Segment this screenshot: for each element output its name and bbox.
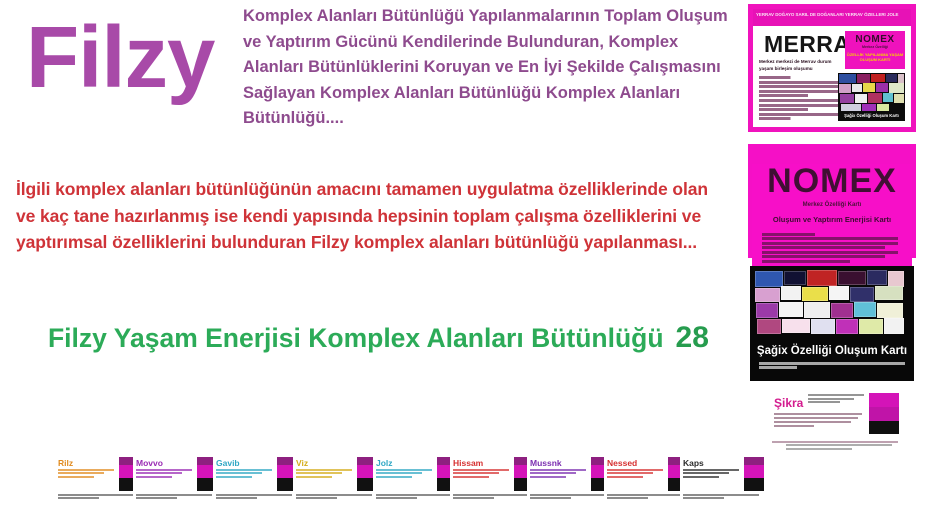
thumbnail-label: Nessed [607,458,637,468]
merrav-topbar-text: YERRAV DOĞAYO SARIL DE DOĞANLARI YERRAV … [753,9,911,26]
thumbnail-color-swatch [744,457,764,491]
sikra-headline: Şikra [774,396,803,410]
red-paragraph: İlgili komplex alanları bütünlüğünün ama… [16,176,730,256]
thumbnail-label: Hissam [453,458,483,468]
sikra-body-text [774,413,862,429]
thumbnail-card[interactable]: Gavib [213,455,299,503]
thumbnail-text-lines [683,469,741,479]
thumbnail-footer-lines [136,494,212,500]
thumbnail-label: Rilz [58,458,73,468]
thumbnail-label: Gavib [216,458,240,468]
thumbnail-card[interactable]: Kaps [680,455,766,503]
thumbnail-text-lines [530,469,588,479]
merrav-body-text [759,76,845,122]
sikra-footer-rule [772,441,898,443]
thumbnail-text-lines [296,469,354,479]
nomex-badge-orange-text: ÖZELLİK YAPILANMA YAŞAM OLUŞUM KARTI [845,52,905,63]
thumbnail-card[interactable]: Movvo [133,455,219,503]
thumbnail-card[interactable]: Jolz [373,455,459,503]
collage-subtext [759,362,905,370]
thumbnail-text-lines [58,469,116,479]
thumbnail-text-lines [453,469,511,479]
nomex-subtitle-2: Oluşum ve Yaptırım Enerjisi Kartı [752,215,912,224]
thumbnail-footer-lines [296,494,372,500]
thumbnail-footer-lines [58,494,134,500]
thumbnail-label: Movvo [136,458,163,468]
green-heading-text: Filzy Yaşam Enerjisi Komplex Alanları Bü… [48,323,664,353]
thumbnail-card[interactable]: Rilz [55,455,141,503]
thumbnail-label: Mussnk [530,458,562,468]
merrav-mini-collage: Şağix Özelliği Oluşum Kartı [838,73,905,121]
merrav-subtitle: Merkez merkezi de Merrav durum yaşam bir… [759,59,847,73]
nomex-body-text [762,233,902,263]
thumbnail-text-lines [607,469,665,479]
thumbnail-footer-lines [683,494,759,500]
thumbnail-card[interactable]: Viz [293,455,379,503]
thumbnail-card[interactable]: Nessed [604,455,690,503]
collage-caption: Şağix Özelliği Oluşum Kartı [750,345,914,357]
nomex-badge-sub: Merkez Özelliği [845,45,905,50]
thumbnail-footer-lines [376,494,452,500]
nomex-card[interactable]: NOMEX Merkez Özelliği Kartı Oluşum ve Ya… [748,144,916,258]
thumbnail-footer-lines [607,494,683,500]
sikra-card[interactable]: Şikra [762,389,905,445]
nomex-badge: NOMEX Merkez Özelliği ÖZELLİK YAPILANMA … [845,31,905,69]
collage-card[interactable]: Şağix Özelliği Oluşum Kartı [750,266,914,381]
thumbnail-strip: RilzMovvoGavibVizJolzHissamMussnkNessedK… [0,455,925,515]
thumbnail-label: Kaps [683,458,704,468]
nomex-headline: NOMEX [752,164,912,198]
thumbnail-footer-lines [530,494,606,500]
nomex-subtitle-1: Merkez Özelliği Kartı [752,202,912,208]
thumbnail-footer-lines [216,494,292,500]
green-heading: Filzy Yaşam Enerjisi Komplex Alanları Bü… [48,316,738,360]
thumbnail-text-lines [216,469,274,479]
document-page: Filzy Komplex Alanları Bütünlüğü Yapılan… [0,0,925,527]
merrav-card-body: YERRAV DOĞAYO SARIL DE DOĞANLARI YERRAV … [753,9,911,127]
sikra-thumbnail-stack [869,393,899,434]
nomex-card-body: NOMEX Merkez Özelliği Kartı Oluşum ve Ya… [752,164,912,270]
green-heading-number: 28 [664,321,709,354]
nomex-badge-word: NOMEX [845,34,905,45]
merrav-card[interactable]: YERRAV DOĞAYO SARIL DE DOĞANLARI YERRAV … [748,4,916,132]
thumbnail-label: Jolz [376,458,393,468]
thumbnail-text-lines [136,469,194,479]
purple-paragraph: Komplex Alanları Bütünlüğü Yapılanmaları… [243,4,735,132]
collage-thumbnail-grid [753,269,911,341]
stray-text-block [786,444,892,453]
thumbnail-text-lines [376,469,434,479]
sikra-header-lines [808,394,864,405]
thumbnail-card[interactable]: Hissam [450,455,536,503]
thumbnail-footer-lines [453,494,529,500]
thumbnail-label: Viz [296,458,308,468]
page-title: Filzy [26,14,214,101]
merrav-mini-collage-caption: Şağix Özelliği Oluşum Kartı [838,113,905,118]
thumbnail-card[interactable]: Mussnk [527,455,613,503]
